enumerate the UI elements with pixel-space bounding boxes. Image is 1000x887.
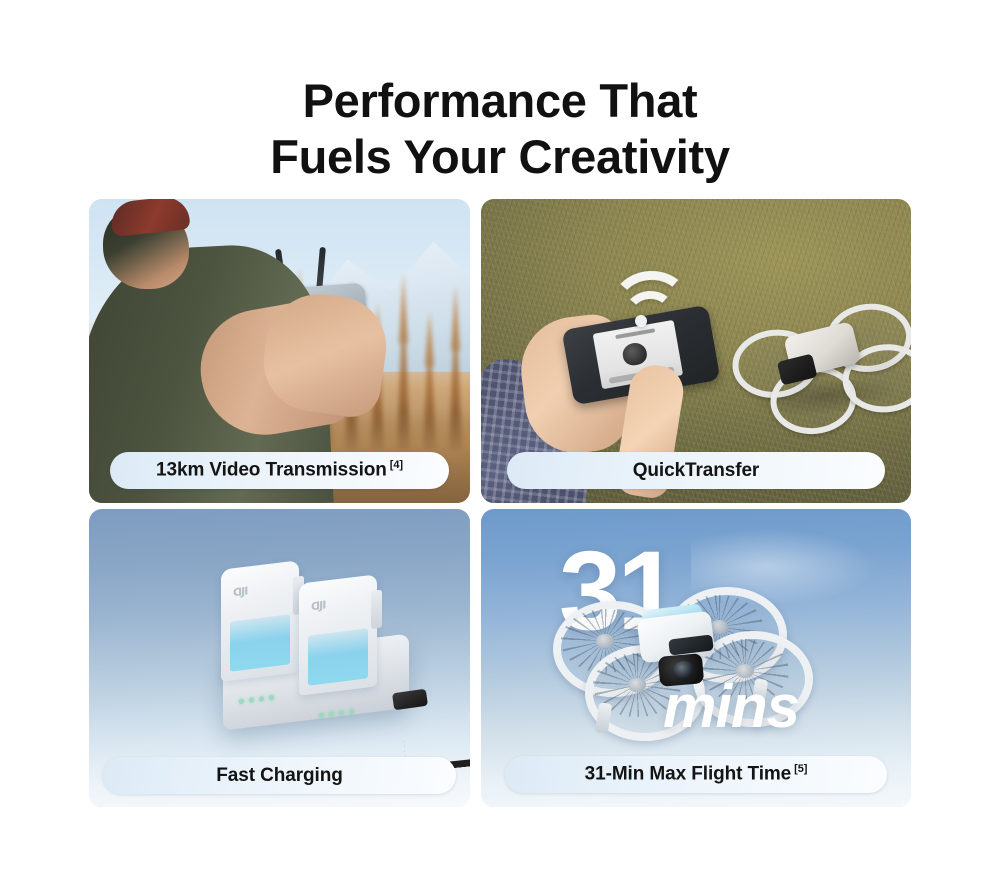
caption-label: 31-Min Max Flight Time[5] <box>585 763 808 785</box>
page-title: Performance That Fuels Your Creativity <box>0 73 1000 184</box>
dji-logo: ‌ᗡJI <box>233 585 247 600</box>
caption-label: QuickTransfer <box>633 460 759 482</box>
flight-time-unit: mins <box>663 677 799 737</box>
charging-hub-icon: ‌ᗡJI ‌ᗡJI <box>217 551 417 729</box>
caption-label: Fast Charging <box>216 765 342 787</box>
phone-screen-thumbnail <box>621 341 648 367</box>
caption-pill-fast-charging: Fast Charging <box>103 757 456 794</box>
footnote-marker: [5] <box>794 763 807 775</box>
battery-icon: ‌ᗡJI <box>221 560 299 682</box>
drone-icon <box>727 298 911 436</box>
battery-icon: ‌ᗡJI <box>299 574 377 696</box>
dji-logo: ‌ᗡJI <box>311 599 325 614</box>
caption-pill-max-flight-time: 31-Min Max Flight Time[5] <box>505 756 887 793</box>
feature-highlights-page: Performance That Fuels Your Creativity <box>0 0 1000 887</box>
feature-card-max-flight-time[interactable]: 31 <box>481 509 911 807</box>
feature-card-quicktransfer[interactable]: QuickTransfer <box>481 199 911 503</box>
page-title-line-1: Performance That <box>0 73 1000 128</box>
battery-latch <box>371 590 382 629</box>
caption-pill-video-transmission: 13km Video Transmission[4] <box>110 452 449 489</box>
wifi-icon <box>609 269 679 331</box>
propeller-hub <box>628 678 646 692</box>
propeller-hub <box>596 634 614 648</box>
page-title-line-2: Fuels Your Creativity <box>0 129 1000 184</box>
feature-card-video-transmission[interactable]: 13km Video Transmission[4] <box>89 199 470 503</box>
battery-level-indicator <box>308 628 368 685</box>
caption-pill-quicktransfer: QuickTransfer <box>507 452 885 489</box>
feature-card-grid: 13km Video Transmission[4] <box>89 199 911 809</box>
caption-label: 13km Video Transmission[4] <box>156 459 403 481</box>
battery-level-indicator <box>230 614 290 671</box>
footnote-marker: [4] <box>390 459 403 471</box>
feature-card-fast-charging[interactable]: ‌ᗡJI ‌ᗡJI <box>89 509 470 807</box>
